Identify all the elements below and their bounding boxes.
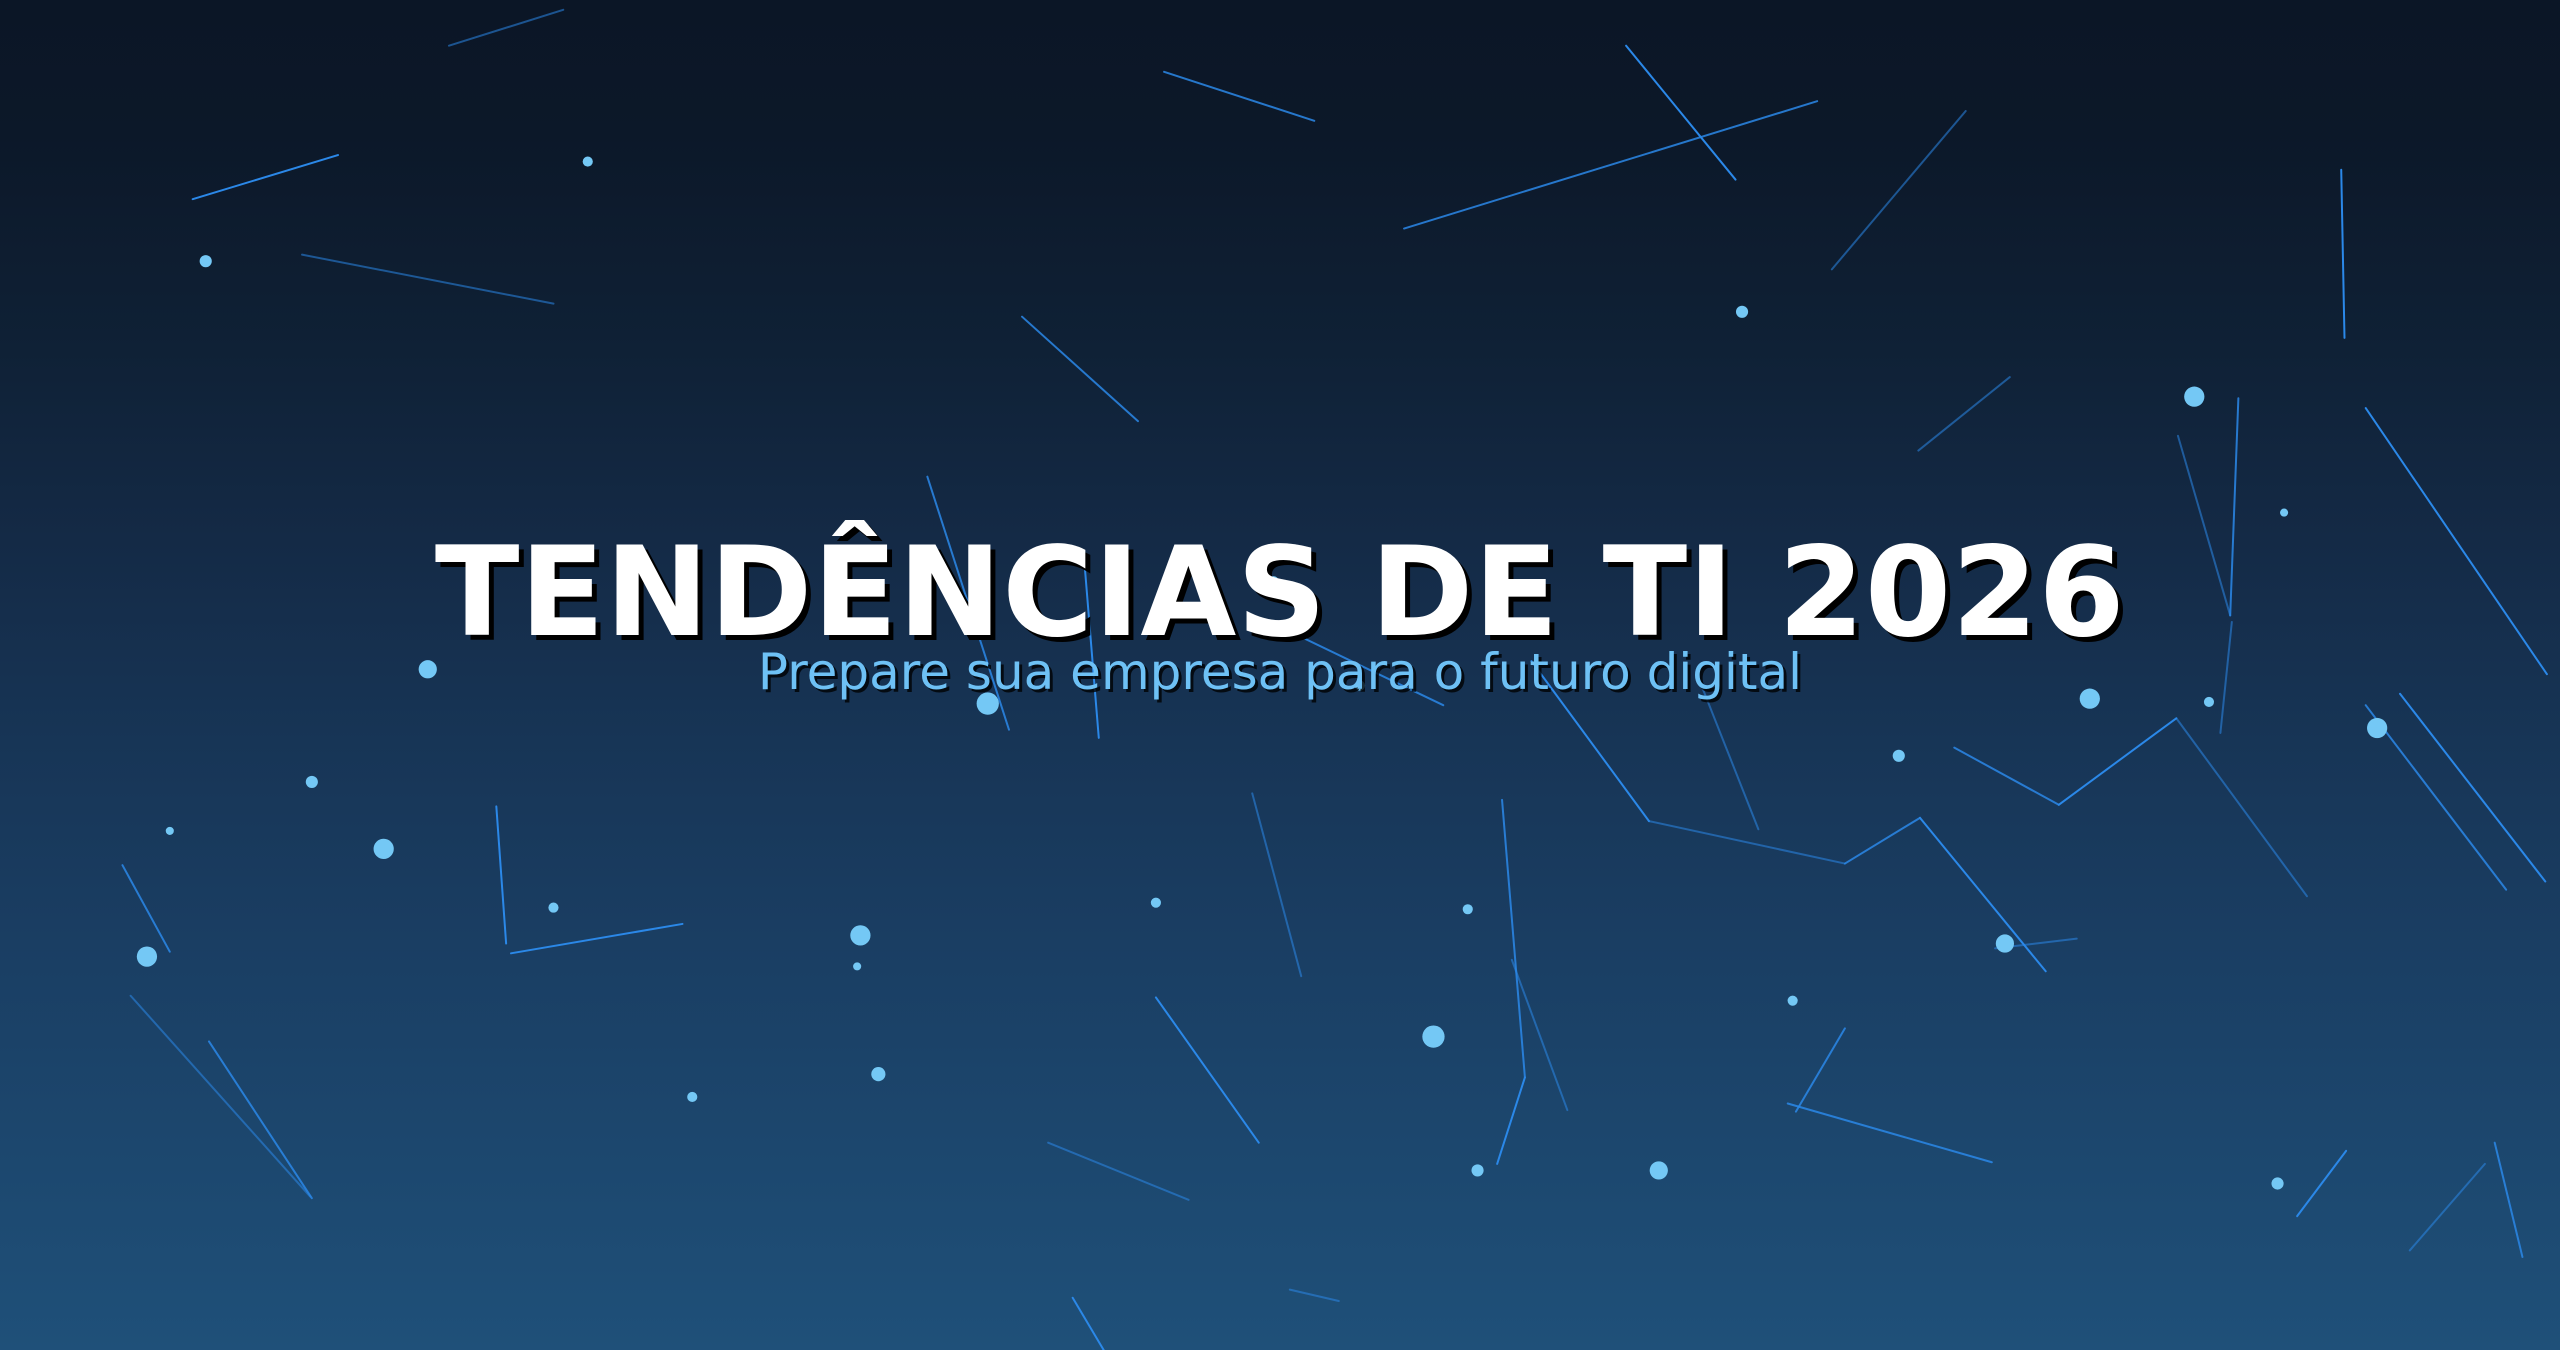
slide-content: TENDÊNCIAS DE TI 2026 Prepare sua empres…: [0, 0, 2560, 1350]
page-subtitle: Prepare sua empresa para o futuro digita…: [0, 647, 2560, 697]
page-title: TENDÊNCIAS DE TI 2026: [0, 531, 2560, 655]
presentation-slide: TENDÊNCIAS DE TI 2026 Prepare sua empres…: [0, 0, 2560, 1350]
